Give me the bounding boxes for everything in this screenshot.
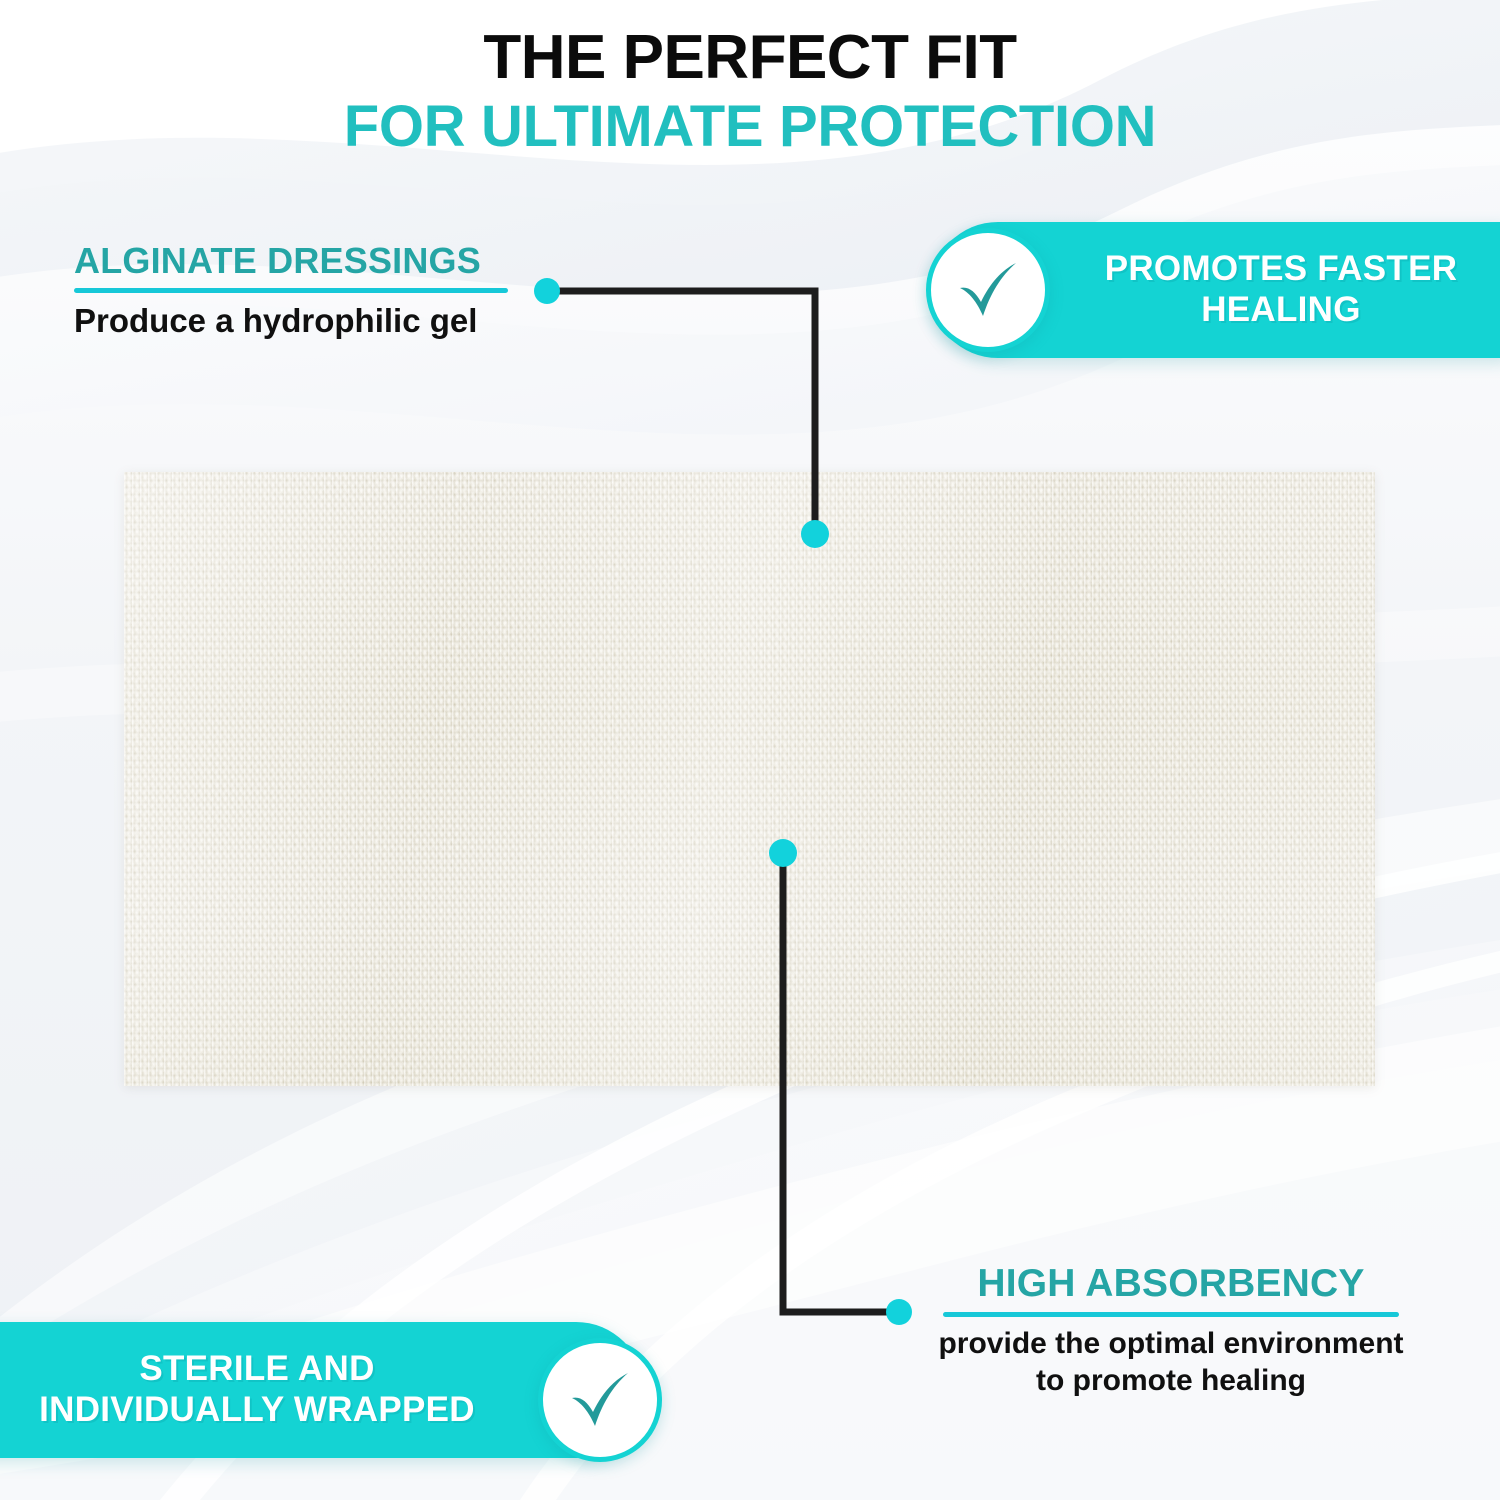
product-image-sheen xyxy=(124,472,1375,1086)
product-image-alginate-pad xyxy=(124,472,1375,1086)
callout-absorbency-description: provide the optimal environment to promo… xyxy=(926,1326,1416,1399)
infographic-page: THE PERFECT FIT FOR ULTIMATE PROTECTION … xyxy=(0,0,1500,1500)
callout-absorbency-title: HIGH ABSORBENCY xyxy=(926,1262,1416,1306)
callout-alginate-rule xyxy=(74,288,508,293)
callout-alginate-title: ALGINATE DRESSINGS xyxy=(74,240,514,282)
page-title-block: THE PERFECT FIT FOR ULTIMATE PROTECTION xyxy=(0,26,1500,159)
headline-primary: THE PERFECT FIT xyxy=(0,26,1500,89)
badge-sterile-label: STERILE AND INDIVIDUALLY WRAPPED xyxy=(18,1349,496,1430)
check-icon-glyph xyxy=(948,250,1028,330)
headline-secondary: FOR ULTIMATE PROTECTION xyxy=(0,95,1500,159)
callout-alginate-dressings: ALGINATE DRESSINGS Produce a hydrophilic… xyxy=(74,240,514,341)
callout-absorbency-rule xyxy=(943,1312,1399,1317)
check-icon xyxy=(926,228,1050,352)
callout-alginate-description: Produce a hydrophilic gel xyxy=(74,302,514,341)
badge-faster-healing-label: PROMOTES FASTER HEALING xyxy=(1070,249,1492,330)
callout-high-absorbency: HIGH ABSORBENCY provide the optimal envi… xyxy=(926,1262,1416,1399)
check-icon xyxy=(538,1338,662,1462)
check-icon-glyph xyxy=(560,1360,640,1440)
